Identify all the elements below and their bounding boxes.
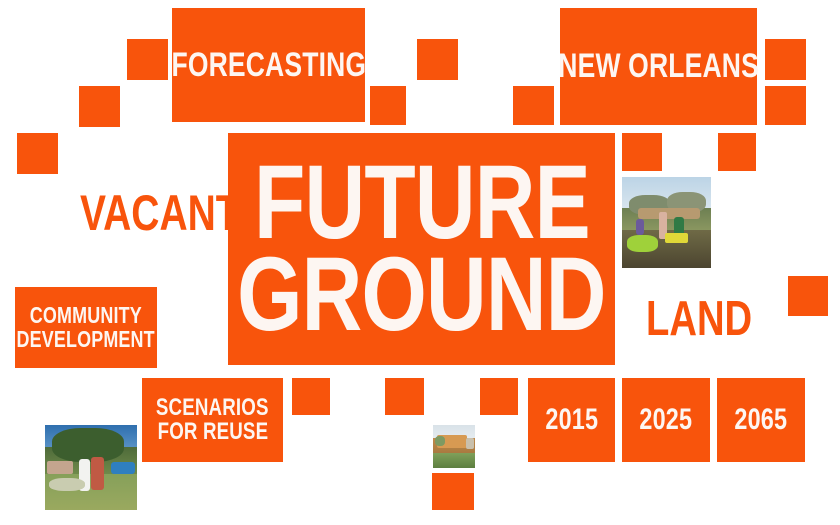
tag-land-label: LAND — [646, 295, 752, 344]
tag-community-development-line-1: COMMUNITY — [30, 304, 142, 327]
poster-title-line-2: GROUND — [191, 249, 652, 341]
decor-square-bl-1 — [292, 378, 330, 415]
year-tile-2065-label: 2065 — [735, 405, 788, 436]
future-ground-poster: FORECASTING NEW ORLEANS VACANT FUTURE GR… — [0, 0, 840, 525]
decor-square-tm-3 — [513, 86, 554, 125]
tag-scenarios-line-2: FOR REUSE — [157, 420, 268, 444]
year-tile-2065: 2065 — [717, 378, 805, 462]
community-garden-photo — [622, 177, 711, 268]
decor-square-tr-1 — [765, 39, 806, 80]
year-tile-2015: 2015 — [528, 378, 615, 462]
decor-square-tm-1 — [417, 39, 458, 80]
year-tile-2025: 2025 — [622, 378, 710, 462]
tag-community-development: COMMUNITY DEVELOPMENT — [15, 287, 157, 368]
year-tile-2025-label: 2025 — [640, 405, 693, 436]
tag-new-orleans-label: NEW ORLEANS — [558, 49, 759, 84]
decor-square-bm-2 — [480, 378, 518, 415]
tag-scenarios-line-1: SCENARIOS — [156, 396, 269, 420]
poster-title-block: FUTURE GROUND — [228, 133, 615, 365]
decor-square-tl-1 — [127, 39, 168, 80]
decor-square-mr-3 — [788, 276, 828, 316]
poster-title-line-2-text: GROUND — [237, 249, 606, 341]
decor-square-tr-2 — [765, 86, 806, 125]
decor-square-tm-2 — [370, 86, 406, 125]
tag-land: LAND — [646, 295, 782, 344]
tag-forecasting-label: FORECASTING — [171, 48, 366, 83]
house-and-lot-photo — [433, 425, 475, 468]
residents-in-yard-photo — [45, 425, 137, 510]
decor-square-mr-2 — [718, 133, 756, 171]
tag-scenarios-for-reuse: SCENARIOS FOR REUSE — [142, 378, 283, 462]
decor-square-mr-1 — [622, 133, 662, 171]
decor-square-bm-1 — [385, 378, 424, 415]
decor-square-tl-3 — [17, 133, 58, 174]
decor-square-bm-3 — [432, 473, 474, 510]
tag-forecasting: FORECASTING — [172, 8, 365, 122]
tag-new-orleans: NEW ORLEANS — [560, 8, 757, 125]
year-tile-2015-label: 2015 — [545, 405, 598, 436]
tag-community-development-line-2: DEVELOPMENT — [17, 328, 155, 351]
decor-square-tl-2 — [79, 86, 120, 127]
